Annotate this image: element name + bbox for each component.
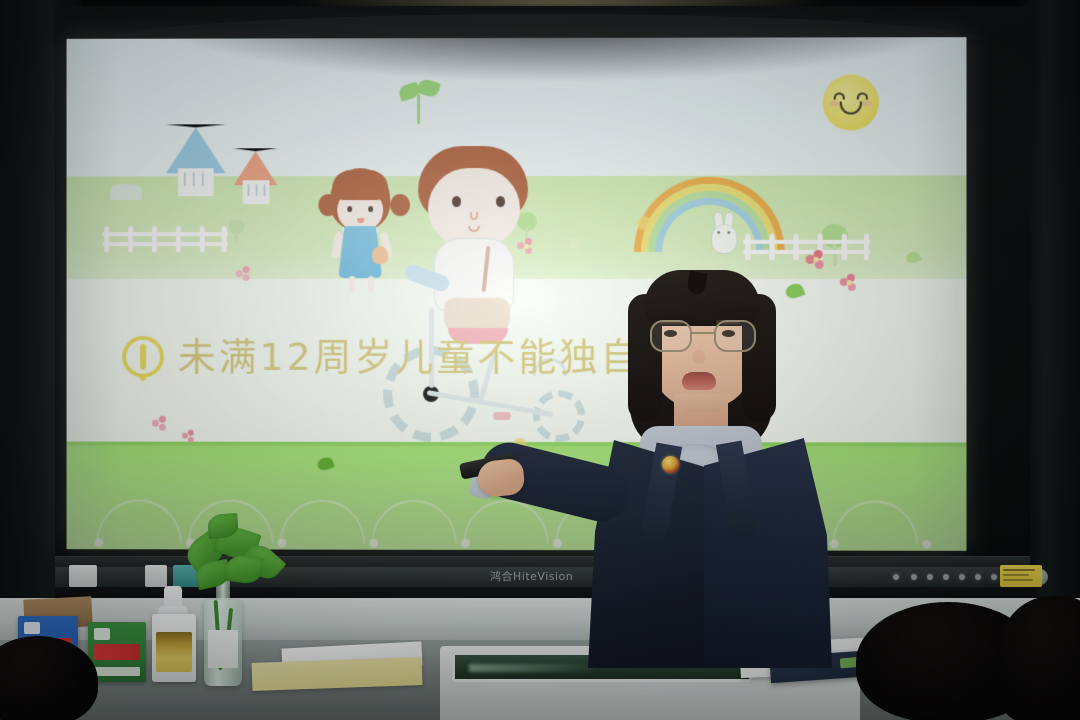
control-dot — [943, 574, 949, 580]
plant-bottle — [204, 600, 242, 686]
fence-left — [102, 226, 227, 252]
control-dot — [911, 574, 917, 580]
control-dot — [893, 574, 899, 580]
tree-icon — [229, 219, 245, 245]
paper-yellow — [252, 657, 423, 691]
bezel-sticker-id — [69, 565, 97, 587]
presenter — [556, 268, 856, 668]
blossom-icon — [569, 238, 581, 250]
girl-character — [320, 168, 408, 294]
sprout-icon — [399, 78, 439, 124]
blossom-icon — [637, 216, 651, 230]
house-icon — [234, 148, 284, 214]
control-dot — [975, 574, 981, 580]
house-icon — [166, 124, 228, 202]
sun-icon — [814, 65, 888, 139]
control-dot — [927, 574, 933, 580]
flower-icon — [517, 238, 537, 258]
bezel-sticker-qr — [145, 565, 167, 587]
party-emblem-pin — [662, 456, 679, 473]
flower-icon — [152, 416, 170, 434]
nose — [692, 350, 706, 364]
house-icon — [110, 178, 146, 202]
flower-icon — [236, 266, 254, 284]
glasses-icon — [650, 320, 756, 354]
control-dot — [959, 574, 965, 580]
bunny-icon — [711, 213, 737, 253]
flower-icon — [182, 430, 198, 446]
exclamation-circle-icon — [122, 336, 164, 378]
mouth — [682, 372, 716, 390]
warning-sticker — [1000, 565, 1042, 587]
control-dot — [991, 574, 997, 580]
screenshot-stage: 未满12周岁儿童不能独自骑车 鸿合HiteVision — [0, 0, 1080, 720]
soap-dispenser[interactable] — [152, 614, 196, 682]
